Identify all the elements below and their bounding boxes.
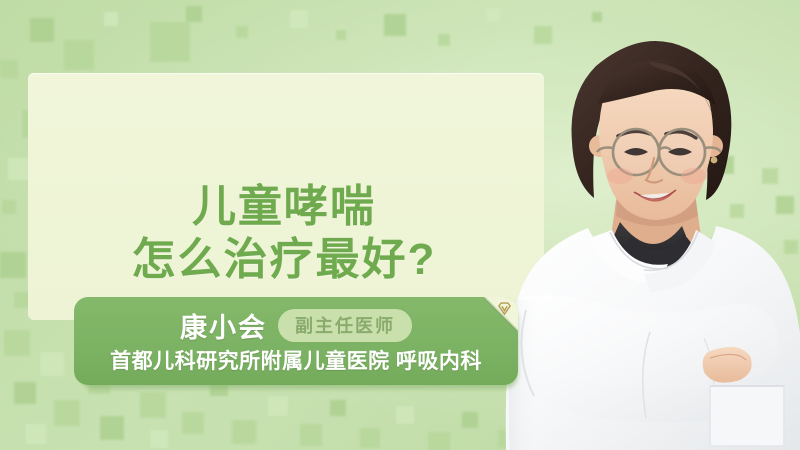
doctor-affiliation: 首都儿科研究所附属儿童医院 呼吸内科 (74, 345, 518, 375)
status-badge: 副主任医师 (278, 309, 412, 342)
doctor-info-bar: 康小会 副主任医师 首都儿科研究所附属儿童医院 呼吸内科 (74, 297, 518, 385)
headline-line-2: 怎么治疗最好? (28, 233, 540, 287)
poster-canvas: 儿童哮喘 怎么治疗最好? (0, 0, 800, 450)
doctor-name: 康小会 (180, 306, 267, 345)
doctor-portrait-illustration (500, 0, 800, 450)
doctor-info-bar-surface: 康小会 副主任医师 首都儿科研究所附属儿童医院 呼吸内科 (74, 297, 518, 385)
gem-verified-icon (497, 301, 512, 316)
doctor-name-row: 康小会 副主任医师 (74, 306, 518, 345)
headline-line-1: 儿童哮喘 (192, 182, 376, 231)
doctor-portrait (500, 0, 800, 450)
